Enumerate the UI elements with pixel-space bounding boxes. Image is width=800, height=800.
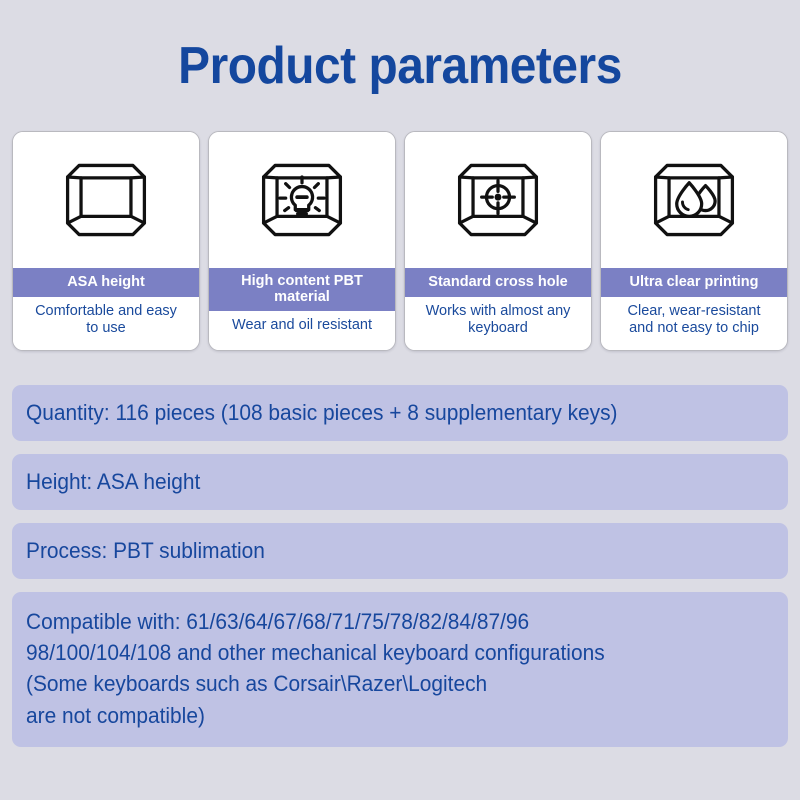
feature-card-band: ASA height xyxy=(13,268,199,297)
desc-line-1: Wear and oil resistant xyxy=(232,317,372,334)
desc-line-2: to use xyxy=(35,320,177,337)
feature-card-description: Wear and oil resistant xyxy=(209,311,395,350)
spec-text: Height: ASA height xyxy=(26,469,200,495)
feature-card-pbt-material: High content PBT material Wear and oil r… xyxy=(208,131,396,351)
band-line-1: Ultra clear printing xyxy=(630,274,759,290)
desc-line-1: Works with almost any xyxy=(426,303,571,320)
spec-row-height: Height: ASA height xyxy=(12,454,788,510)
page-title: Product parameters xyxy=(32,36,768,96)
feature-card-band: Standard cross hole xyxy=(405,268,591,297)
feature-card-cross-hole: Standard cross hole Works with almost an… xyxy=(404,131,592,351)
desc-line-1: Clear, wear-resistant xyxy=(628,303,761,320)
compatibility-line-4: are not compatible) xyxy=(26,700,737,731)
spec-row-process: Process: PBT sublimation xyxy=(12,523,788,579)
spec-list: Quantity: 116 pieces (108 basic pieces +… xyxy=(12,385,788,747)
spec-text: Quantity: 116 pieces (108 basic pieces +… xyxy=(26,400,618,426)
compatibility-line-2: 98/100/104/108 and other mechanical keyb… xyxy=(26,637,737,668)
feature-card-description: Clear, wear-resistant and not easy to ch… xyxy=(601,297,787,350)
desc-line-2: keyboard xyxy=(426,320,571,337)
product-parameters-page: Product parameters ASA height Comfortabl… xyxy=(0,0,800,800)
compatibility-line-1: Compatible with: 61/63/64/67/68/71/75/78… xyxy=(26,606,737,637)
keycap-waterdrop-icon xyxy=(601,132,787,268)
feature-card-band: Ultra clear printing xyxy=(601,268,787,297)
desc-line-2: and not easy to chip xyxy=(628,320,761,337)
compatibility-line-3: (Some keyboards such as Corsair\Razer\Lo… xyxy=(26,668,737,699)
keycap-lightbulb-icon xyxy=(209,132,395,268)
keycap-crosshair-icon xyxy=(405,132,591,268)
desc-line-1: Comfortable and easy xyxy=(35,303,177,320)
feature-card-band: High content PBT material xyxy=(209,268,395,311)
feature-card-description: Works with almost any keyboard xyxy=(405,297,591,350)
spec-text: Process: PBT sublimation xyxy=(26,538,265,564)
feature-card-description: Comfortable and easy to use xyxy=(13,297,199,350)
feature-card-clear-printing: Ultra clear printing Clear, wear-resista… xyxy=(600,131,788,351)
band-line-1: ASA height xyxy=(67,274,145,290)
feature-card-list: ASA height Comfortable and easy to use xyxy=(12,131,788,351)
band-line-2: material xyxy=(241,289,363,305)
keycap-blank-icon xyxy=(13,132,199,268)
feature-card-asa-height: ASA height Comfortable and easy to use xyxy=(12,131,200,351)
spec-row-quantity: Quantity: 116 pieces (108 basic pieces +… xyxy=(12,385,788,441)
spec-block-compatibility: Compatible with: 61/63/64/67/68/71/75/78… xyxy=(12,592,788,747)
band-line-1: Standard cross hole xyxy=(428,274,567,290)
band-line-1: High content PBT xyxy=(241,273,363,289)
